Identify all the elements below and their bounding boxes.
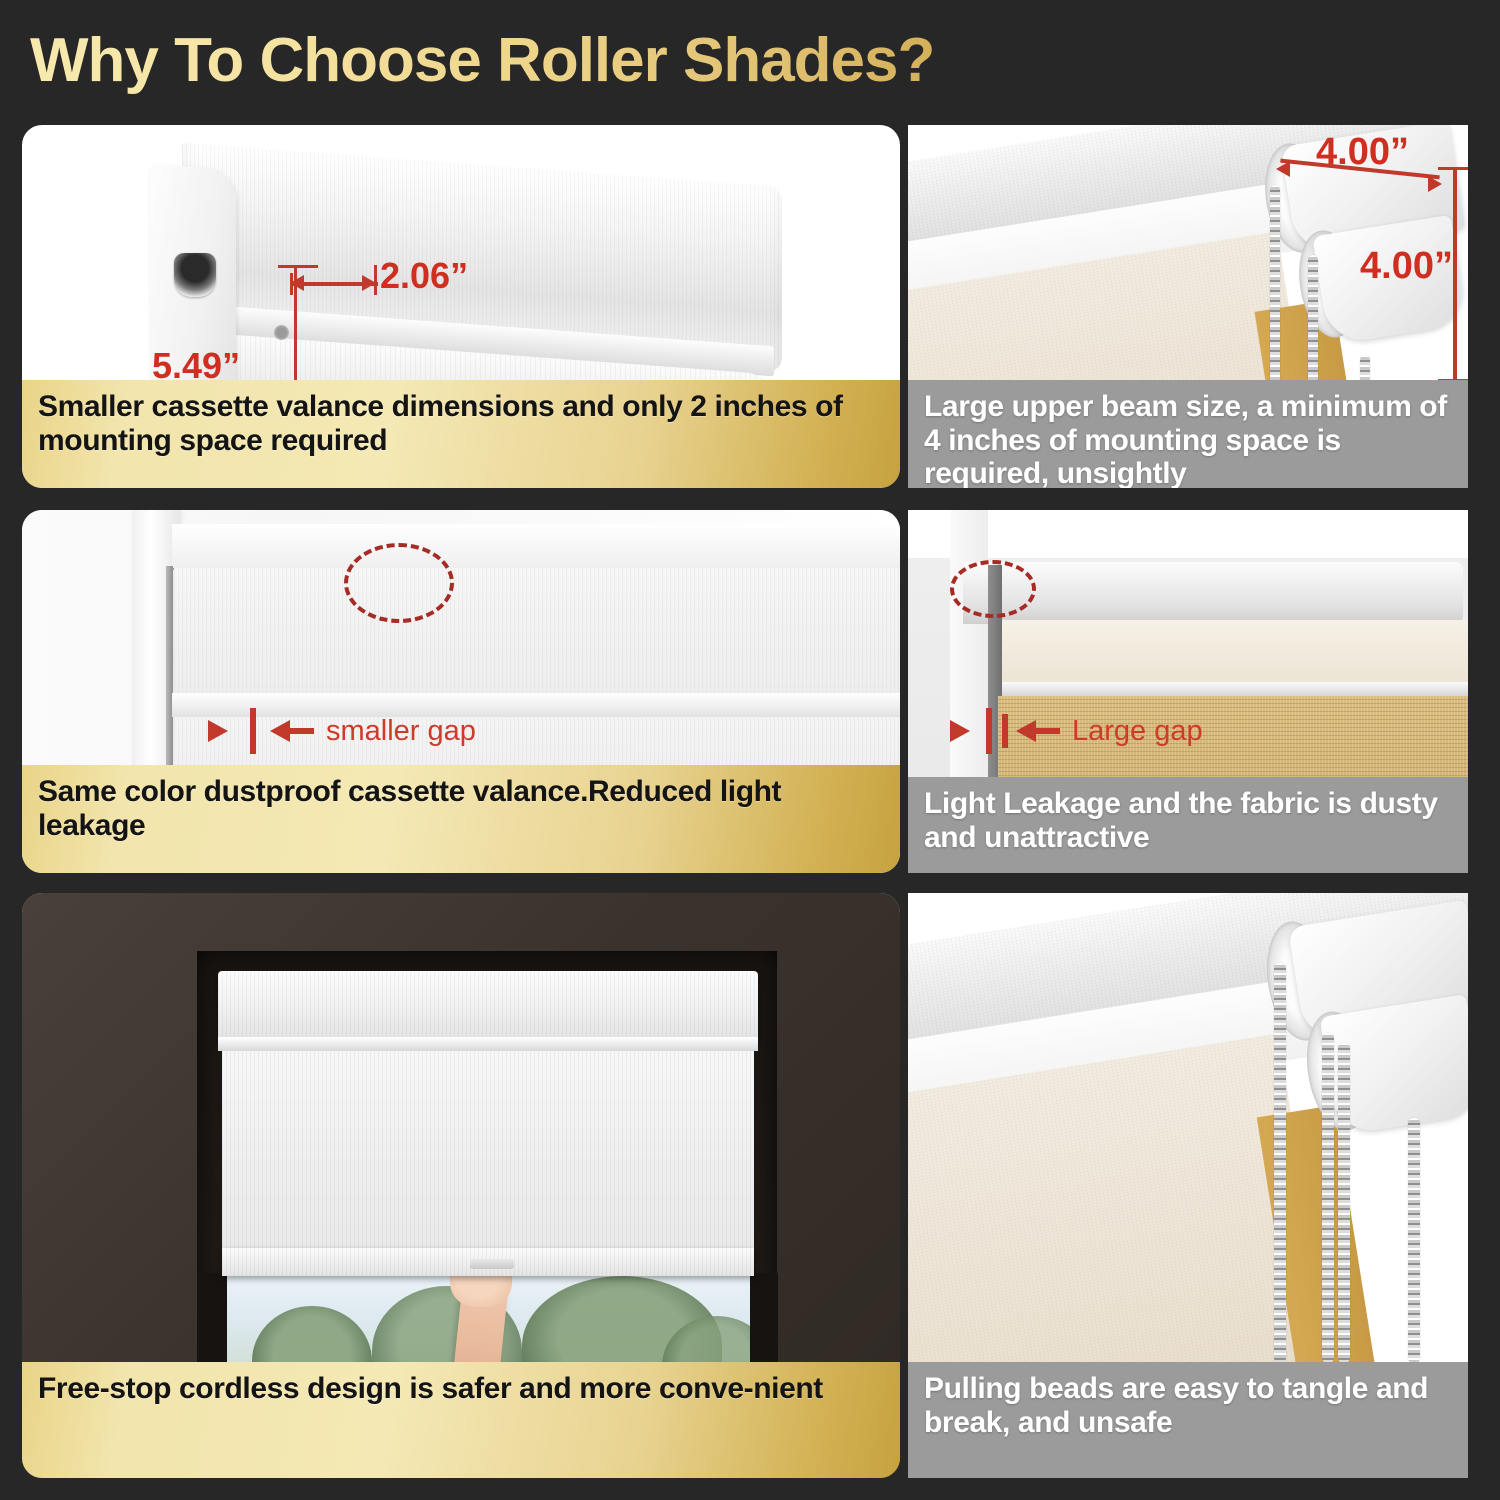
caption-pulling-beads: Pulling beads are easy to tangle and bre… — [908, 1362, 1468, 1478]
shade-grip-handle — [470, 1259, 514, 1269]
comparison-grid: 2.06” 5.49” Smaller cassette valance dim… — [0, 0, 1500, 1500]
bead-chain-right — [1408, 1118, 1420, 1363]
large-gap-label: Large gap — [1072, 715, 1203, 748]
width-dim-arrow-right — [362, 275, 376, 291]
cassette-valance-shape — [218, 971, 758, 1041]
beam-width-dimension-label: 4.00” — [1316, 131, 1409, 174]
shade-fabric-upper — [174, 568, 900, 693]
highlight-ellipse-marker — [344, 543, 454, 623]
panel-smaller-cassette-valance: 2.06” 5.49” Smaller cassette valance dim… — [22, 125, 900, 488]
width-dim-arrow-left — [290, 275, 304, 291]
caption-smaller-cassette-valance: Smaller cassette valance dimensions and … — [22, 380, 900, 488]
highlight-ellipse-marker — [950, 560, 1036, 618]
fabric-rail-shape — [996, 682, 1468, 696]
bead-chain-left — [1270, 185, 1280, 385]
panel-pulling-beads: Pulling beads are easy to tangle and bre… — [908, 893, 1468, 1478]
gap-arrow-stem — [290, 728, 314, 734]
smaller-gap-annotation: smaller gap — [208, 708, 476, 754]
gap-tick-mark — [250, 708, 256, 754]
width-dimension-label: 2.06” — [380, 255, 468, 297]
gap-arrow-left-icon — [1016, 720, 1036, 742]
beam-width-arrow-right — [1428, 176, 1442, 192]
panel-dustproof-valance: smaller gap Same color dustproof cassett… — [22, 510, 900, 873]
endcap-screw-small-icon — [274, 325, 289, 340]
gap-arrow-stem — [1036, 728, 1060, 734]
panel-light-leakage: Large gap Light Leakage and the fabric i… — [908, 510, 1468, 873]
cream-fabric-band — [998, 620, 1468, 688]
beam-height-tick-top — [1438, 167, 1468, 170]
beam-width-arrow-left — [1276, 161, 1290, 177]
caption-large-upper-beam: Large upper beam size, a minimum of 4 in… — [908, 380, 1468, 488]
bead-chain-inner — [1338, 1043, 1350, 1363]
beam-height-dimension-label: 4.00” — [1360, 245, 1453, 288]
gap-arrow-right-icon — [208, 720, 228, 742]
large-gap-annotation: Large gap — [950, 708, 1203, 754]
gap-arrow-right-icon — [950, 720, 970, 742]
ceiling-band — [908, 510, 1468, 558]
valance-lip-shape — [218, 1037, 758, 1051]
gap-tick-mark — [986, 708, 992, 754]
panel-free-stop-cordless: Free-stop cordless design is safer and m… — [22, 893, 900, 1478]
gap-arrow-left-icon — [270, 720, 290, 742]
roller-tube-shape — [963, 562, 1463, 624]
valance-head-shape — [172, 524, 900, 570]
caption-free-stop-cordless: Free-stop cordless design is safer and m… — [22, 1362, 900, 1478]
bead-chain-left — [1274, 963, 1286, 1363]
bead-chain-middle — [1322, 1033, 1334, 1363]
height-dim-tick-top — [278, 265, 318, 268]
endcap-slot-icon — [174, 253, 216, 297]
beam-height-dim-line — [1453, 167, 1457, 382]
shade-fabric-shape — [222, 1051, 754, 1251]
gap-tick-mark-2 — [1002, 714, 1008, 748]
smaller-gap-label: smaller gap — [326, 715, 476, 748]
caption-dustproof-valance: Same color dustproof cassette valance.Re… — [22, 765, 900, 873]
bead-chain-middle — [1308, 255, 1318, 390]
caption-light-leakage: Light Leakage and the fabric is dusty an… — [908, 777, 1468, 873]
panel-large-upper-beam: 4.00” 4.00” Large upper beam size, a min… — [908, 125, 1468, 488]
